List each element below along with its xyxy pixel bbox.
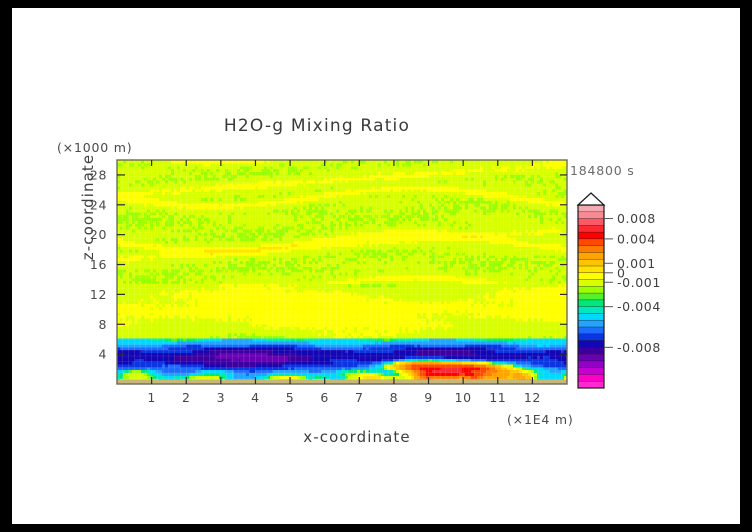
contour-plot: 123456789101112481216202428 0.0080.0040.… [12,8,740,524]
colorbar[interactable]: 0.0080.0040.0010-0.001-0.004-0.008 [578,193,661,388]
figure-canvas: H2O-g Mixing Ratio (×1000 m) (×1E4 m) x-… [12,8,740,524]
contour-field [117,160,568,385]
